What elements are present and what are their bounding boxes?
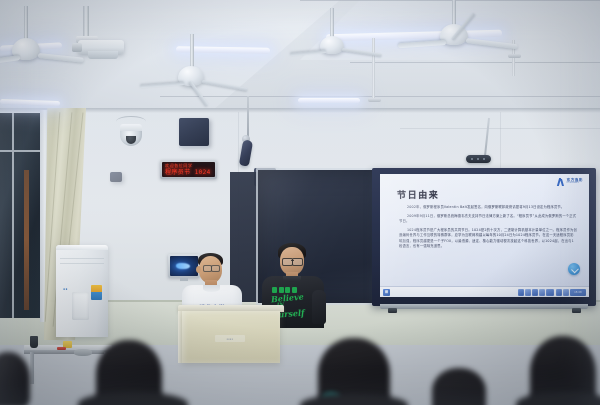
led-sign-line1: 欢迎各位同学: [165, 163, 193, 169]
gray-object: [74, 349, 92, 356]
led-scrolling-sign: 欢迎各位同学 程序员节 1024: [160, 160, 217, 179]
ear: [196, 266, 201, 273]
monitor-stand: [180, 278, 188, 281]
tray-icon[interactable]: [539, 289, 545, 296]
tray-icon[interactable]: [532, 289, 538, 296]
red-object: [57, 347, 66, 350]
display-foot: [572, 308, 581, 313]
tube-support-rod: [372, 38, 375, 100]
shirt-collar: [283, 276, 301, 282]
brand-text: 东方逸彩 DONGFANG: [567, 179, 583, 185]
eyeglasses-icon: [203, 265, 220, 270]
tube-support-foot: [368, 98, 381, 102]
tray-icon[interactable]: [525, 289, 531, 296]
sensor-led-icon: [477, 158, 479, 160]
sensor-led-icon: [483, 158, 485, 160]
arm: [312, 290, 326, 324]
ceiling-seam: [420, 96, 600, 97]
fluorescent-tube: [298, 98, 360, 103]
check-circle-icon[interactable]: [568, 263, 580, 275]
graphic-block: [272, 287, 277, 293]
slide-paragraph: 2002年，俄罗斯程序员Valentin Balt发起签名，向俄罗斯联邦政府请愿…: [399, 205, 577, 210]
wall-speaker: [110, 172, 122, 182]
ceiling-seam: [300, 0, 600, 1]
slide-paragraph: 2009年9月11日，俄罗斯总统梅德韦杰夫支持节日法律方案上新了名。“程序员节”…: [399, 214, 577, 225]
fan-downrod: [330, 8, 334, 38]
wall-speaker: [179, 118, 209, 146]
tray-icon[interactable]: [546, 289, 554, 296]
window-mullion: [0, 150, 44, 152]
window-mullion: [12, 113, 14, 318]
led-sign-line2: 程序员节 1024: [162, 170, 211, 176]
table-edge: [24, 350, 112, 354]
table-leg: [30, 352, 34, 384]
graphic-block: [279, 287, 284, 293]
ac-top-cap: [56, 245, 108, 250]
slide-body: 2002年，俄罗斯程序员Valentin Balt发起签名，向俄罗斯联邦政府请愿…: [399, 202, 577, 251]
display-base-bar: [380, 304, 588, 309]
audience-head: [0, 352, 30, 405]
led-screen: 欢迎各位同学 程序员节 1024: [162, 162, 215, 177]
brand-name-en: DONGFANG: [567, 183, 583, 185]
projector-mount: [83, 6, 89, 38]
audience-shoulders: [78, 392, 188, 405]
tray-icon[interactable]: [563, 289, 569, 296]
audience-shoulders: [516, 392, 600, 405]
ceiling-seam: [350, 62, 600, 63]
audience-head: [432, 368, 486, 405]
ir-sensor-bar: [466, 155, 491, 163]
classroom-photo: 欢迎各位同学 程序员节 1024 ●●: [0, 0, 600, 405]
sensor-led-icon: [471, 158, 473, 160]
fan-downrod: [452, 0, 456, 26]
wall-seam: [500, 112, 501, 168]
slide-title: 节日由来: [397, 188, 439, 201]
ac-energy-label: [91, 285, 102, 300]
monitor-screen: [170, 256, 198, 276]
eyeglasses-bridge: [291, 260, 294, 261]
fan-downrod: [24, 6, 28, 40]
wall-ceiling-shadow: [0, 108, 600, 113]
presentation-slide: 东方逸彩 DONGFANG 节日由来 2002年，俄罗斯程序员Valentin …: [380, 174, 589, 297]
display-taskbar: ⊞ 15:08: [380, 286, 589, 297]
interactive-display[interactable]: 东方逸彩 DONGFANG 节日由来 2002年，俄罗斯程序员Valentin …: [372, 168, 596, 306]
podium-nameplate: ▪▪▪▪: [215, 335, 245, 342]
cup: [30, 336, 38, 348]
start-button[interactable]: ⊞: [383, 289, 390, 296]
wall-monitor: [168, 254, 200, 278]
slide-logo: 东方逸彩 DONGFANG: [558, 178, 583, 186]
window-reflection: [24, 170, 29, 310]
ac-vent-line: [60, 263, 104, 264]
taskbar-tray: 15:08: [518, 289, 586, 296]
brand-mark-icon: [558, 178, 565, 186]
eyeglasses-icon: [282, 258, 303, 264]
speaker-trim: [179, 146, 209, 148]
slide-paragraph: 1024程序员节是广大程序员的共同节日。1024是2的十次方，二进制计算机基本计…: [399, 228, 577, 249]
tube-support-foot: [508, 54, 521, 58]
audience-shoulders: [300, 394, 408, 405]
tray-icon[interactable]: [556, 289, 562, 296]
taskbar-clock[interactable]: 15:08: [570, 289, 586, 296]
shirt-collar: [203, 285, 220, 292]
monitor-image: [176, 263, 190, 269]
projector-lower-shell: [88, 51, 118, 59]
tray-icon[interactable]: [518, 289, 524, 296]
ac-vent-line: [60, 258, 104, 259]
ac-control-panel[interactable]: [72, 292, 89, 320]
display-foot: [388, 308, 397, 313]
projector-lens: [72, 43, 82, 52]
fan-downrod: [190, 34, 194, 68]
